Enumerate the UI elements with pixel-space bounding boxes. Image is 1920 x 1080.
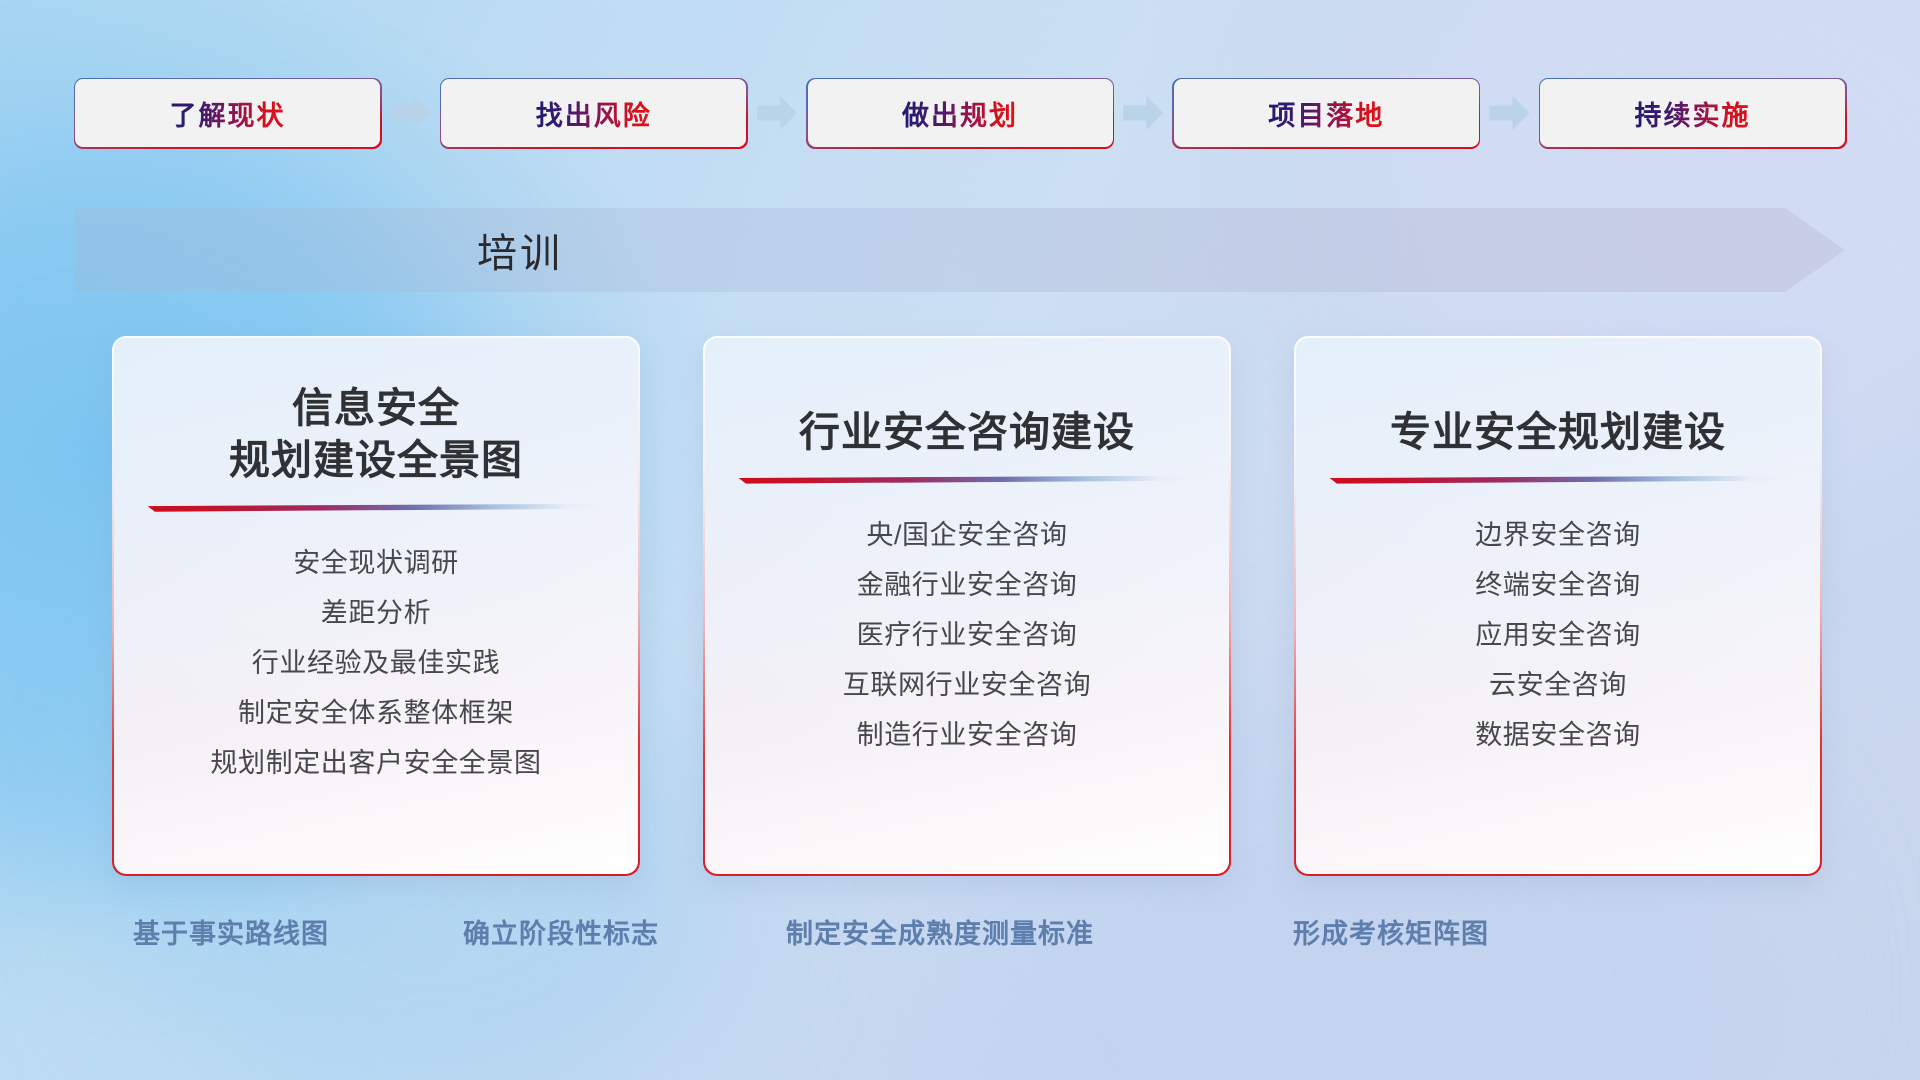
list-item: 云安全咨询 <box>1489 672 1627 699</box>
arrow-right-icon <box>757 96 797 130</box>
card-information-security-panorama[interactable]: 信息安全 规划建设全景图 安全现状调研 差距分析 行业经验及最佳实践 制定安全体… <box>112 336 640 876</box>
list-item: 金融行业安全咨询 <box>857 572 1078 599</box>
arrow-right-icon <box>1123 96 1163 130</box>
list-item: 规划制定出客户安全全景图 <box>210 750 541 777</box>
list-item: 行业经验及最佳实践 <box>252 650 500 677</box>
card-2-title: 行业安全咨询建设 <box>739 338 1196 458</box>
list-item: 制定安全体系整体框架 <box>238 700 514 727</box>
process-step-1[interactable]: 了解现状 <box>75 79 380 147</box>
card-1-divider <box>148 504 605 512</box>
list-item: 安全现状调研 <box>293 550 459 577</box>
arrow-right-icon <box>391 96 431 130</box>
process-step-row: 了解现状 找出风险 做出规划 项目落地 持续实施 <box>75 78 1845 148</box>
process-step-1-label: 了解现状 <box>170 94 286 133</box>
card-1-title-line-2: 规划建设全景图 <box>148 434 605 486</box>
process-step-5[interactable]: 持续实施 <box>1540 79 1845 147</box>
process-step-2-label: 找出风险 <box>536 94 652 133</box>
card-3-title-line-1: 专业安全规划建设 <box>1330 406 1787 458</box>
card-2-list: 央/国企安全咨询 金融行业安全咨询 医疗行业安全咨询 互联网行业安全咨询 制造行… <box>739 488 1196 875</box>
footer-caption-3: 制定安全成熟度测量标准 <box>786 912 1094 951</box>
training-banner: 培训 <box>75 208 1845 292</box>
card-3-title: 专业安全规划建设 <box>1330 338 1787 458</box>
card-1-list: 安全现状调研 差距分析 行业经验及最佳实践 制定安全体系整体框架 规划制定出客户… <box>148 516 605 875</box>
list-item: 边界安全咨询 <box>1475 522 1641 549</box>
list-item: 央/国企安全咨询 <box>866 522 1067 549</box>
card-professional-security-planning[interactable]: 专业安全规划建设 边界安全咨询 终端安全咨询 应用安全咨询 云安全咨询 数据安全… <box>1294 336 1822 876</box>
arrow-right-icon <box>1489 96 1529 130</box>
list-item: 数据安全咨询 <box>1475 722 1641 749</box>
card-row: 信息安全 规划建设全景图 安全现状调研 差距分析 行业经验及最佳实践 制定安全体… <box>112 336 1822 876</box>
process-step-3-label: 做出规划 <box>902 94 1018 133</box>
footer-caption-row: 基于事实路线图 确立阶段性标志 制定安全成熟度测量标准 形成考核矩阵图 <box>0 912 1920 956</box>
footer-caption-1: 基于事实路线图 <box>133 912 329 951</box>
list-item: 终端安全咨询 <box>1475 572 1641 599</box>
process-step-4-label: 项目落地 <box>1268 94 1384 133</box>
card-industry-security-consulting[interactable]: 行业安全咨询建设 央/国企安全咨询 金融行业安全咨询 医疗行业安全咨询 互联网行… <box>703 336 1231 876</box>
process-step-4[interactable]: 项目落地 <box>1174 79 1479 147</box>
process-step-5-label: 持续实施 <box>1635 94 1751 133</box>
process-step-2[interactable]: 找出风险 <box>441 79 746 147</box>
card-2-title-line-1: 行业安全咨询建设 <box>739 406 1196 458</box>
list-item: 医疗行业安全咨询 <box>857 622 1078 649</box>
list-item: 应用安全咨询 <box>1475 622 1641 649</box>
list-item: 互联网行业安全咨询 <box>843 672 1091 699</box>
process-step-3[interactable]: 做出规划 <box>808 79 1113 147</box>
list-item: 制造行业安全咨询 <box>857 722 1078 749</box>
footer-caption-2: 确立阶段性标志 <box>463 912 659 951</box>
card-2-divider <box>739 476 1196 484</box>
card-1-title: 信息安全 规划建设全景图 <box>148 338 605 486</box>
list-item: 差距分析 <box>321 600 431 627</box>
footer-caption-4: 形成考核矩阵图 <box>1293 912 1489 951</box>
training-banner-title: 培训 <box>477 221 563 279</box>
card-1-title-line-1: 信息安全 <box>148 382 605 434</box>
card-3-list: 边界安全咨询 终端安全咨询 应用安全咨询 云安全咨询 数据安全咨询 <box>1330 488 1787 875</box>
card-3-divider <box>1330 476 1787 484</box>
